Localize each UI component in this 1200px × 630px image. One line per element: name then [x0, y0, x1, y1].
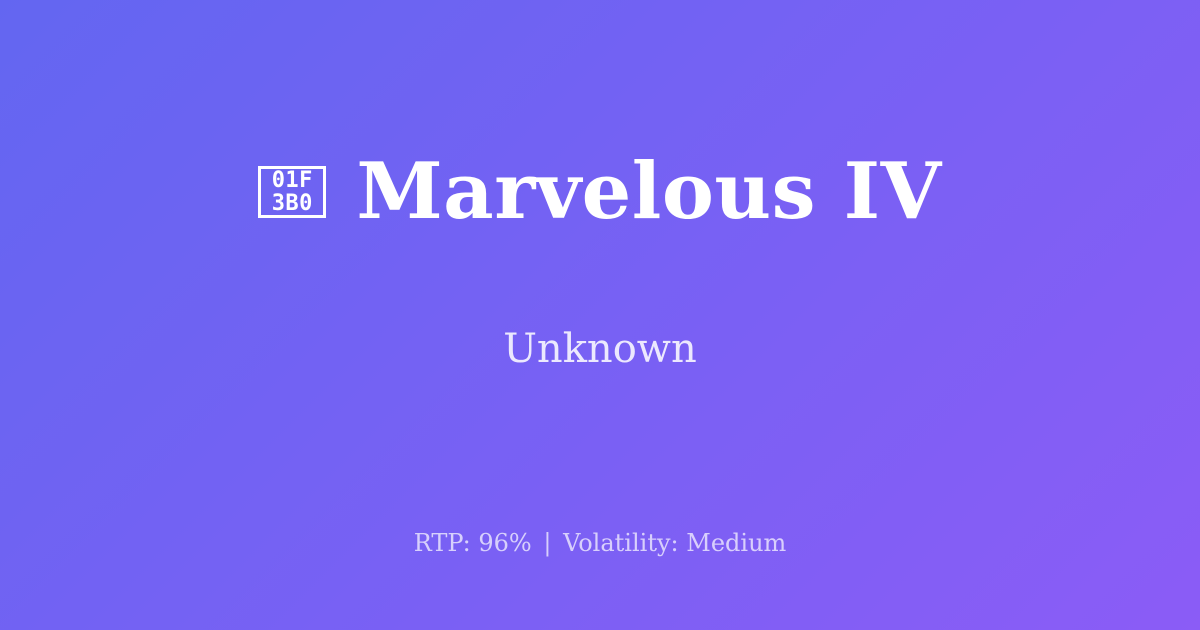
game-meta-line: RTP: 96% | Volatility: Medium: [0, 529, 1200, 557]
hero-block: 01F 3B0 Marvelous IV Unknown: [0, 0, 1200, 470]
rtp-value: 96%: [478, 529, 531, 557]
volatility-label: Volatility:: [563, 529, 679, 557]
tofu-codepoint-line-1: 01F: [272, 169, 313, 192]
game-preview-card: 01F 3B0 Marvelous IV Unknown RTP: 96% | …: [0, 0, 1200, 630]
game-title: Marvelous IV: [356, 153, 941, 231]
slot-machine-icon: 01F 3B0: [258, 166, 326, 218]
game-subtitle: Unknown: [503, 329, 697, 369]
meta-separator: |: [539, 529, 555, 557]
title-row: 01F 3B0 Marvelous IV: [258, 101, 941, 284]
tofu-codepoint-line-2: 3B0: [272, 192, 313, 215]
rtp-label: RTP:: [414, 529, 471, 557]
volatility-value: Medium: [686, 529, 786, 557]
